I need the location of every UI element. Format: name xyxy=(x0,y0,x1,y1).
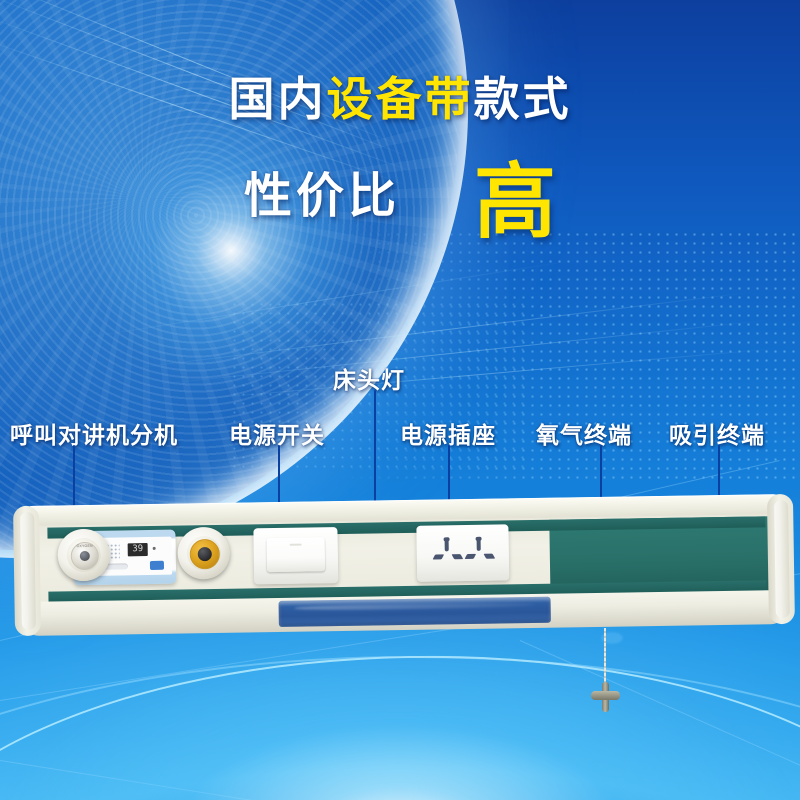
headline-block: 国内设备带款式 xyxy=(0,76,800,122)
headline-line-1: 国内设备带款式 xyxy=(0,76,800,122)
oxygen-terminal-bezel: OXYGEN xyxy=(67,538,102,573)
headline-text-white-left: 国内 xyxy=(229,73,327,125)
panel-end-cap-right xyxy=(767,494,795,624)
intercom-call-button[interactable] xyxy=(150,561,164,570)
suction-terminal-ring xyxy=(190,539,220,569)
socket-pin-right xyxy=(451,554,463,559)
headline-line-2: 性价比 xyxy=(244,173,400,221)
bed-head-unit-panel: 39 xyxy=(21,494,787,638)
suction-terminal-port[interactable] xyxy=(198,547,212,561)
suction-terminal-bezel xyxy=(187,536,222,571)
power-socket-device[interactable] xyxy=(416,524,509,581)
headline-text-yellow: 设备带 xyxy=(327,73,474,125)
headline-line-2-row: 性价比 高 xyxy=(0,160,800,234)
socket-outlet[interactable] xyxy=(433,539,463,567)
headline-emphasis-gao: 高 xyxy=(474,166,556,240)
pendant-horizontal-bar xyxy=(591,691,620,700)
socket-pin-vertical xyxy=(477,539,481,551)
socket-outlet[interactable] xyxy=(465,539,495,567)
oxygen-terminal-ring: OXYGEN xyxy=(71,542,99,570)
socket-pin-vertical xyxy=(445,539,449,551)
socket-pin-right xyxy=(483,554,495,559)
switch-mark xyxy=(290,544,302,546)
pull-cord-cross-pendant[interactable] xyxy=(588,682,622,712)
socket-pin-left xyxy=(465,554,477,559)
callout-label: 床头灯 xyxy=(333,361,405,395)
oxygen-terminal-port[interactable] xyxy=(80,551,90,561)
callout-label: 吸引终端 xyxy=(669,416,765,450)
callout-label: 呼叫对讲机分机 xyxy=(10,416,178,450)
bed-lamp-strip[interactable] xyxy=(279,597,551,627)
callout-label: 电源开关 xyxy=(229,416,325,450)
intercom-display: 39 xyxy=(128,543,148,556)
oxygen-terminal-label: OXYGEN xyxy=(72,544,98,548)
callout-label: 氧气终端 xyxy=(536,416,632,450)
indicator-led-icon xyxy=(153,547,156,550)
headline-text-white-right: 款式 xyxy=(474,73,572,125)
switch-rocker[interactable] xyxy=(267,537,326,572)
power-switch-device[interactable] xyxy=(253,527,338,584)
panel-end-cap-left xyxy=(13,506,41,636)
socket-pin-left xyxy=(433,554,445,559)
promo-image-canvas: 国内设备带款式 性价比 高 呼叫对讲机分机电源开关床头灯电源插座氧气终端吸引终端… xyxy=(0,0,800,800)
